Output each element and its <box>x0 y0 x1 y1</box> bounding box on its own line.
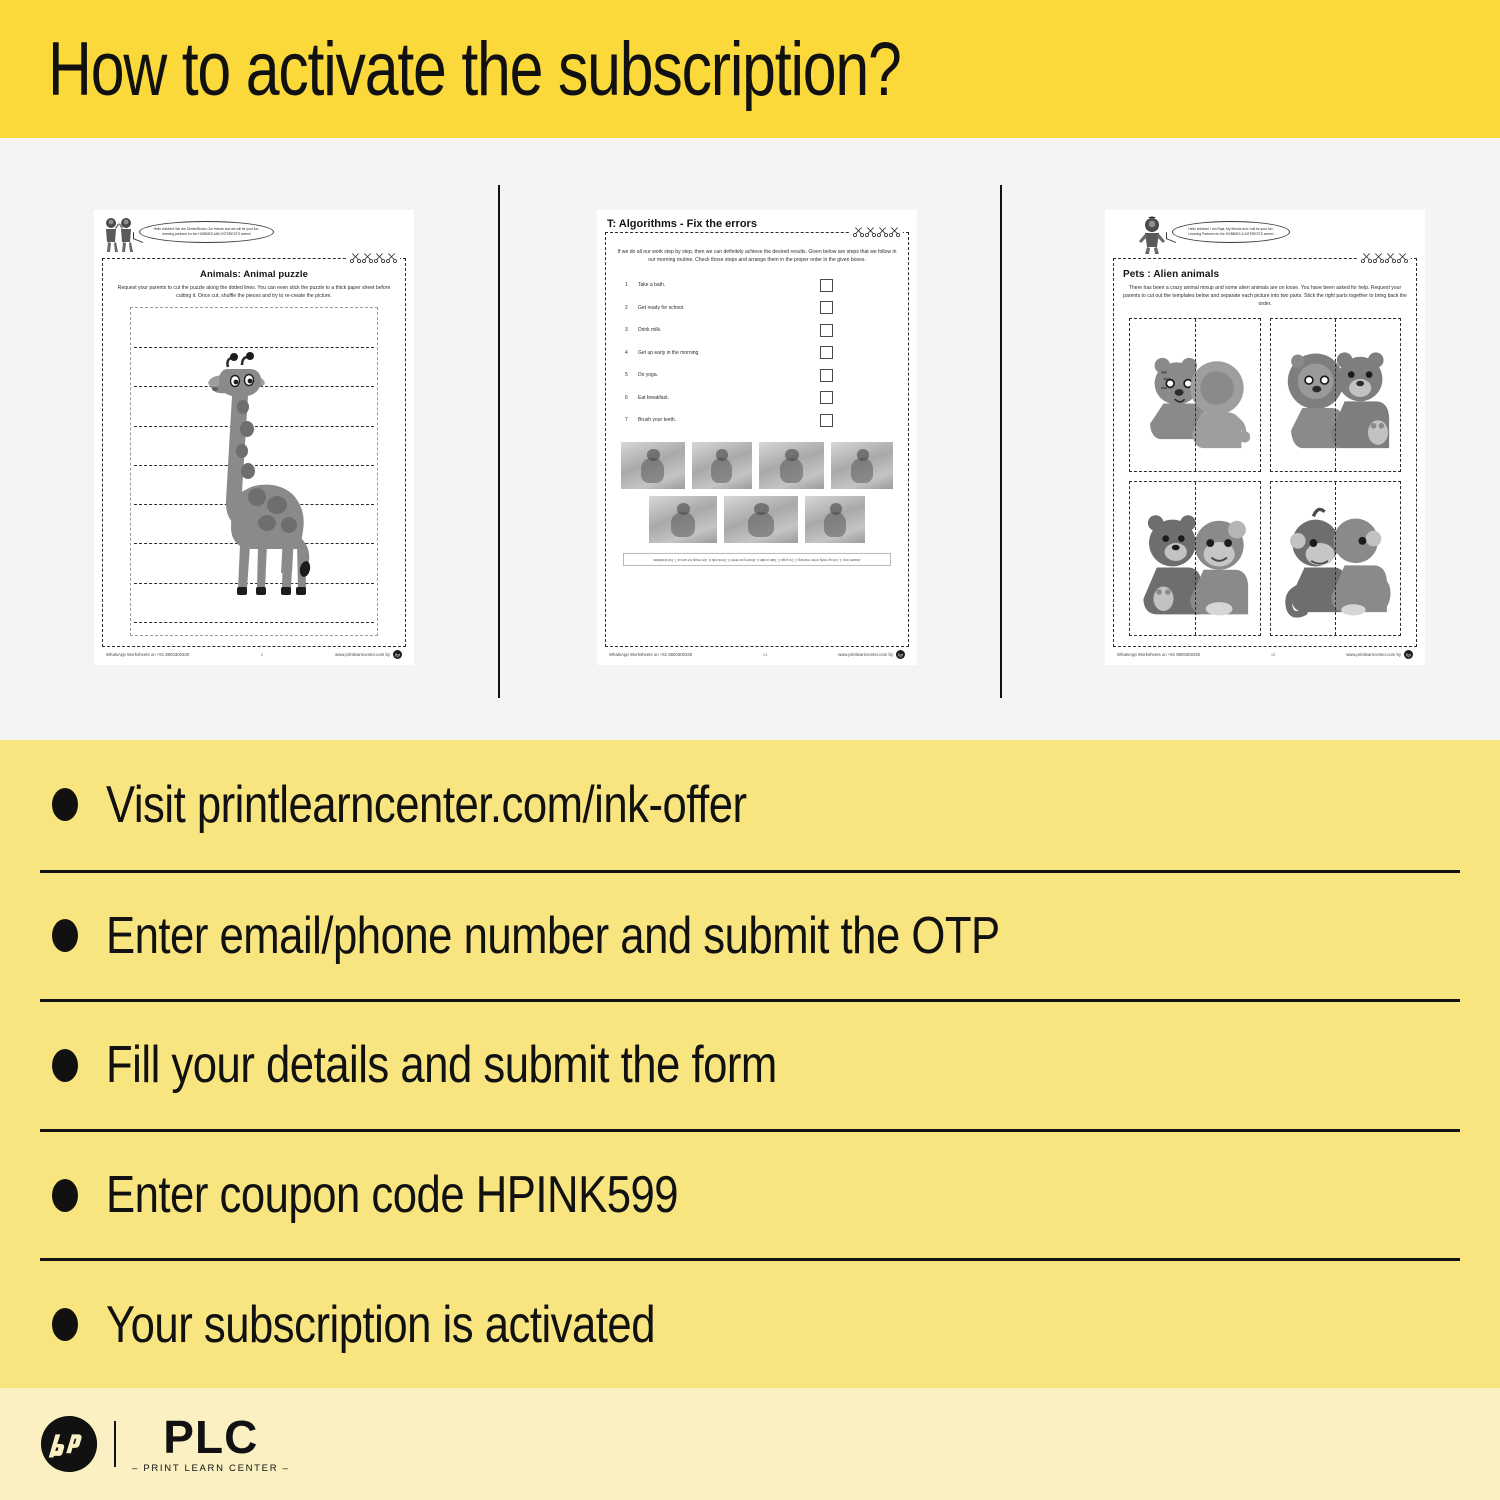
routine-photo <box>831 442 893 489</box>
animal-card-monkey-monkey[interactable] <box>1270 481 1402 636</box>
footer-band: PLC – PRINT LEARN CENTER – <box>0 1388 1500 1500</box>
svg-text:hp: hp <box>395 653 400 658</box>
routine-photo <box>759 442 825 489</box>
step-number: 3 <box>625 327 638 333</box>
scissors-strip-icon <box>850 226 903 237</box>
activation-step-label: Your subscription is activated <box>106 1295 655 1355</box>
worksheet-title: Pets : Alien animals <box>1123 269 1407 280</box>
activation-step-2: Enter email/phone number and submit the … <box>40 870 1460 1000</box>
hp-logo-icon: hp <box>1404 650 1413 659</box>
activation-step-label: Enter email/phone number and submit the … <box>106 906 1000 966</box>
brand-logos: PLC – PRINT LEARN CENTER – <box>40 1414 290 1474</box>
showcase-divider-2 <box>1000 185 1002 698</box>
worksheet-description: If we do all our work step by step, then… <box>615 249 899 265</box>
routine-photo <box>692 442 752 489</box>
giraffe-puzzle-area <box>130 307 378 636</box>
step-label: Brush your teeth. <box>638 417 820 423</box>
alien-animal-cards <box>1123 315 1407 640</box>
step-label: Get up early in the morning. <box>638 350 820 356</box>
list-item[interactable]: 3 Drink milk. <box>625 324 895 337</box>
mascot-row: Hello children! We are Dhrish/Bhola. Our… <box>102 216 406 256</box>
worksheet-dashed-frame: Pets : Alien animals There has been a cr… <box>1113 258 1417 647</box>
mascot-characters-icon <box>102 216 136 254</box>
step-number: 5 <box>625 372 638 378</box>
showcase-divider-1 <box>498 185 500 698</box>
bullet-icon <box>52 919 78 952</box>
routine-steps-list: 1 Take a bath. 2 Get ready for school. 3… <box>625 279 895 437</box>
worksheet-card-alien-animals[interactable]: Hello children! I am Raja. My friends an… <box>1105 210 1425 665</box>
mascot-row: Hello children! I am Raja. My friends an… <box>1113 216 1417 256</box>
worksheet-footer-website: www.printlearncenter.com by <box>838 652 893 657</box>
step-checkbox[interactable] <box>820 301 833 314</box>
worksheet-page-number: 5 <box>189 652 335 657</box>
worksheet-footer-contact: WhatsApp Worksheets on +91 8800300330 <box>609 652 692 657</box>
promo-page: How to activate the subscription? <box>0 0 1500 1500</box>
routine-photo-grid <box>621 442 893 550</box>
routine-photo <box>805 496 865 543</box>
hp-logo-icon <box>40 1415 98 1473</box>
step-checkbox[interactable] <box>820 324 833 337</box>
mascot-speech-bubble: Hello children! I am Raja. My friends an… <box>1172 221 1290 243</box>
step-number: 1 <box>625 282 638 288</box>
activation-step-4: Enter coupon code HPINK599 <box>40 1129 1460 1259</box>
scissors-strip-icon <box>1358 252 1411 263</box>
step-label: Eat breakfast. <box>638 395 820 401</box>
step-number: 6 <box>625 395 638 401</box>
worksheet-page-number: 13 <box>692 652 838 657</box>
mascot-speech-bubble: Hello children! We are Dhrish/Bhola. Our… <box>139 221 274 243</box>
step-label: Do yoga. <box>638 372 820 378</box>
worksheet-title: Animals: Animal puzzle <box>112 269 396 280</box>
routine-photo <box>621 442 685 489</box>
activation-step-label: Visit printlearncenter.com/ink-offer <box>106 775 747 835</box>
animal-card-lion-bear[interactable] <box>1270 318 1402 473</box>
bullet-icon <box>52 788 78 821</box>
list-item[interactable]: 6 Eat breakfast. <box>625 391 895 404</box>
routine-photo <box>649 496 717 543</box>
activation-step-label: Fill your details and submit the form <box>106 1035 777 1095</box>
hp-logo-icon: hp <box>896 650 905 659</box>
bullet-icon <box>52 1049 78 1082</box>
worksheet-dashed-frame: Animals: Animal puzzle Request your pare… <box>102 258 406 647</box>
step-label: Take a bath. <box>638 282 820 288</box>
list-item[interactable]: 5 Do yoga. <box>625 369 895 382</box>
list-item[interactable]: 1 Take a bath. <box>625 279 895 292</box>
step-checkbox[interactable] <box>820 391 833 404</box>
svg-text:hp: hp <box>898 653 903 658</box>
worksheet-card-animal-puzzle[interactable]: Hello children! We are Dhrish/Bhola. Our… <box>94 210 414 665</box>
header-band: How to activate the subscription? <box>0 0 1500 138</box>
logo-separator <box>114 1421 116 1467</box>
worksheet-footer-website: www.printlearncenter.com by <box>335 652 390 657</box>
svg-text:hp: hp <box>1406 653 1411 658</box>
activation-steps-band: Visit printlearncenter.com/ink-offer Ent… <box>0 740 1500 1388</box>
activation-step-5: Your subscription is activated <box>40 1258 1460 1388</box>
mascot-character-icon <box>1135 216 1169 254</box>
worksheet-footer-contact: WhatsApp Worksheets on +91 8800300330 <box>106 652 189 657</box>
worksheet-page-number: 15 <box>1200 652 1346 657</box>
worksheet-footer-website: www.printlearncenter.com by <box>1346 652 1401 657</box>
answer-key: Answer key: 1. Get up early in the morni… <box>623 553 891 566</box>
step-label: Get ready for school. <box>638 305 820 311</box>
worksheet-card-algorithms[interactable]: T: Algorithms - Fix the errors If we do … <box>597 210 917 665</box>
step-checkbox[interactable] <box>820 414 833 427</box>
list-item[interactable]: 7 Brush your teeth. <box>625 414 895 427</box>
worksheet-footer-contact: WhatsApp Worksheets on +91 8800300330 <box>1117 652 1200 657</box>
list-item[interactable]: 4 Get up early in the morning. <box>625 346 895 359</box>
bullet-icon <box>52 1308 78 1341</box>
activation-step-3: Fill your details and submit the form <box>40 999 1460 1129</box>
page-title: How to activate the subscription? <box>48 26 901 113</box>
worksheet-showcase: Hello children! We are Dhrish/Bhola. Our… <box>0 138 1500 740</box>
worksheet-description: There has been a crazy animal mixup and … <box>1123 285 1407 309</box>
step-number: 7 <box>625 417 638 423</box>
step-checkbox[interactable] <box>820 369 833 382</box>
giraffe-illustration-icon <box>195 345 313 597</box>
worksheet-footer: WhatsApp Worksheets on +91 8800300330 13… <box>605 647 909 659</box>
routine-photo <box>724 496 798 543</box>
worksheet-footer: WhatsApp Worksheets on +91 8800300330 5 … <box>102 647 406 659</box>
step-checkbox[interactable] <box>820 279 833 292</box>
hp-logo-icon: hp <box>393 650 402 659</box>
step-checkbox[interactable] <box>820 346 833 359</box>
plc-letters: PLC <box>163 1414 258 1460</box>
activation-step-1: Visit printlearncenter.com/ink-offer <box>40 740 1460 870</box>
step-number: 2 <box>625 305 638 311</box>
worksheet-dashed-frame: If we do all our work step by step, then… <box>605 232 909 647</box>
activation-step-label: Enter coupon code HPINK599 <box>106 1165 678 1225</box>
step-number: 4 <box>625 350 638 356</box>
step-label: Drink milk. <box>638 327 820 333</box>
bullet-icon <box>52 1179 78 1212</box>
plc-subtitle: – PRINT LEARN CENTER – <box>132 1463 290 1474</box>
worksheet-description: Request your parents to cut the puzzle a… <box>112 285 396 301</box>
animal-card-tiger-lion[interactable] <box>1129 318 1261 473</box>
plc-logo: PLC – PRINT LEARN CENTER – <box>132 1414 290 1474</box>
worksheet-footer: WhatsApp Worksheets on +91 8800300330 15… <box>1113 647 1417 659</box>
list-item[interactable]: 2 Get ready for school. <box>625 301 895 314</box>
scissors-strip-icon <box>347 252 400 263</box>
animal-card-bear-monkey[interactable] <box>1129 481 1261 636</box>
